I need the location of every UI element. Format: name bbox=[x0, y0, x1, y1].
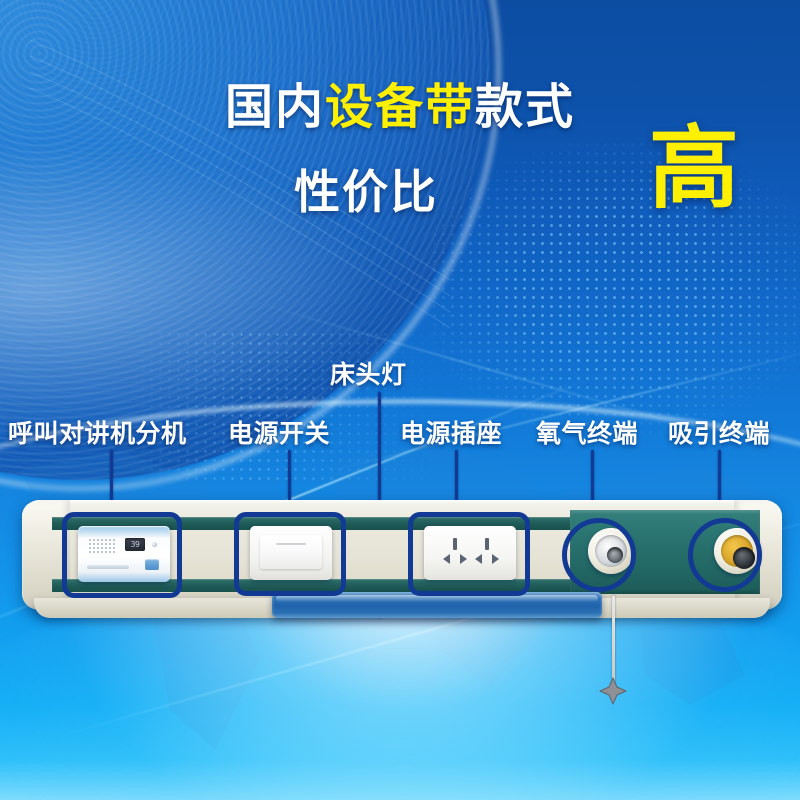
highlight-box-socket bbox=[408, 512, 530, 596]
callout-label-intercom: 呼叫对讲机分机 bbox=[8, 414, 187, 450]
rail-gloss bbox=[276, 595, 598, 602]
callout-labels: 呼叫对讲机分机 电源开关 床头灯 电源插座 氧气终端 吸引终端 bbox=[0, 0, 800, 800]
bed-lamp-pull-cord[interactable] bbox=[612, 596, 615, 684]
highlight-box-intercom bbox=[62, 512, 182, 598]
highlight-box-switch bbox=[234, 512, 346, 596]
callout-label-switch: 电源开关 bbox=[228, 414, 330, 450]
highlight-ring-oxygen bbox=[562, 518, 636, 592]
highlight-ring-suction bbox=[688, 518, 762, 592]
promo-banner: 国内设备带款式 性价比 高 呼叫对讲机分机 电源开关 床头灯 电源插座 氧气终端… bbox=[0, 0, 800, 800]
callout-label-bed-lamp: 床头灯 bbox=[330, 355, 407, 391]
pull-cord-handle-icon[interactable] bbox=[598, 676, 628, 706]
callout-label-oxygen: 氧气终端 bbox=[536, 414, 638, 450]
callout-label-socket: 电源插座 bbox=[400, 414, 502, 450]
callout-label-suction: 吸引终端 bbox=[668, 414, 770, 450]
